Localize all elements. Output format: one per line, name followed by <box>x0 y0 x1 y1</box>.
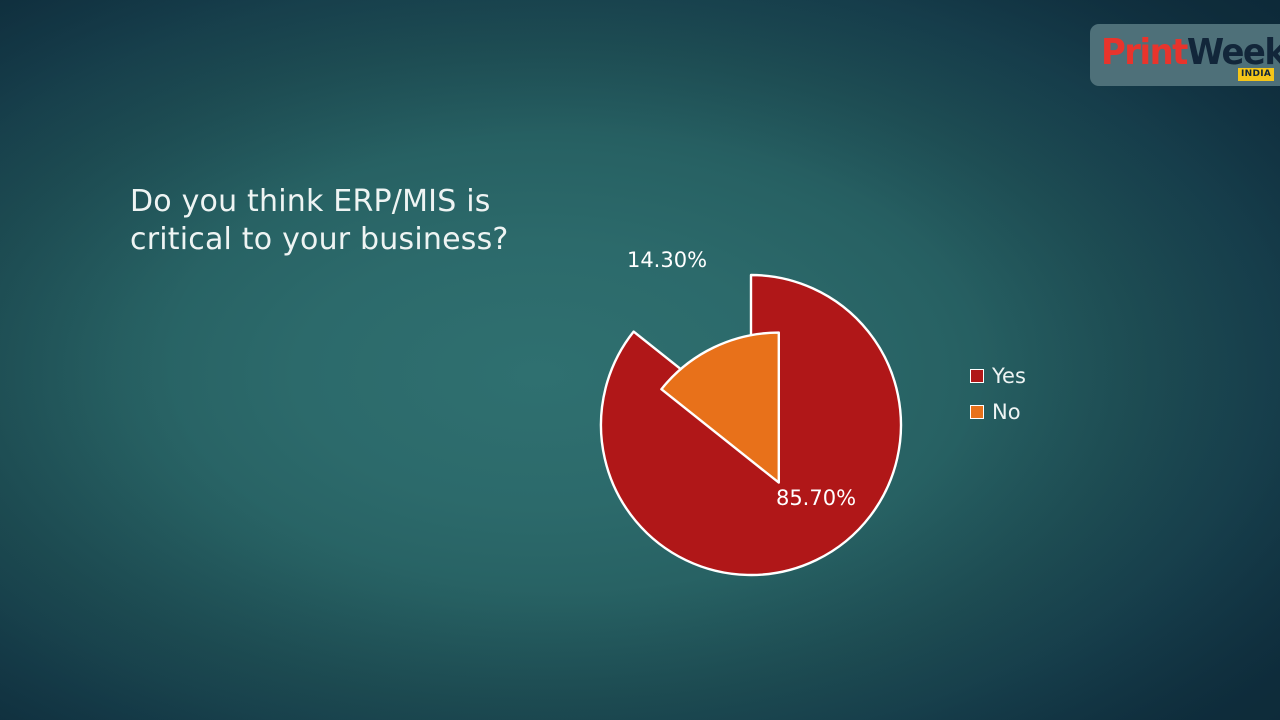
legend-swatch-no <box>970 405 984 419</box>
legend-label-yes: Yes <box>992 364 1026 388</box>
legend-label-no: No <box>992 400 1021 424</box>
legend-item-yes[interactable]: Yes <box>970 358 1090 394</box>
chart-legend: Yes No <box>970 358 1090 430</box>
legend-item-no[interactable]: No <box>970 394 1090 430</box>
legend-swatch-yes <box>970 369 984 383</box>
pie-label-yes: 85.70% <box>776 486 856 510</box>
pie-label-no: 14.30% <box>627 248 707 272</box>
slide-canvas: PrintWeek INDIA Do you think ERP/MIS is … <box>0 0 1280 720</box>
